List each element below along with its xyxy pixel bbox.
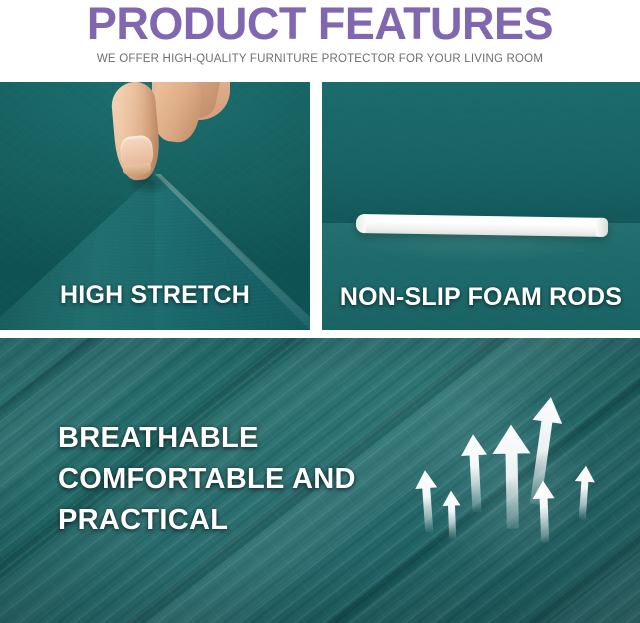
- page-title: PRODUCT FEATURES: [0, 0, 640, 50]
- product-features-infographic: PRODUCT FEATURES WE OFFER HIGH-QUALITY F…: [0, 0, 640, 623]
- panel-caption-foam-rods: NON-SLIP FOAM RODS: [322, 282, 640, 312]
- caption-line-1: BREATHABLE: [58, 418, 356, 459]
- foam-rod-icon: [356, 214, 608, 237]
- airflow-arrow-1: [414, 469, 440, 532]
- airflow-arrow-4: [492, 424, 532, 529]
- panel-divider-vertical: [310, 82, 322, 330]
- airflow-arrow-3: [460, 434, 490, 513]
- panel-divider-horizontal: [0, 330, 640, 338]
- hand-pinch-icon: [118, 82, 222, 196]
- feature-panel-high-stretch: HIGH STRETCH: [0, 82, 310, 330]
- caption-line-3: PRACTICAL: [58, 500, 356, 541]
- page-subtitle: WE OFFER HIGH-QUALITY FURNITURE PROTECTO…: [0, 52, 640, 67]
- feature-panel-breathable: BREATHABLE COMFORTABLE AND PRACTICAL: [0, 338, 640, 623]
- panel-caption-breathable: BREATHABLE COMFORTABLE AND PRACTICAL: [58, 418, 356, 541]
- caption-line-2: COMFORTABLE AND: [58, 459, 356, 500]
- foam-rod-cap-right: [596, 218, 608, 237]
- feature-panel-foam-rods: NON-SLIP FOAM RODS: [322, 82, 640, 330]
- airflow-arrow-7: [572, 465, 596, 520]
- foam-rod-highlight: [364, 217, 596, 226]
- panel-caption-high-stretch: HIGH STRETCH: [0, 280, 310, 310]
- airflow-arrows-icon: [400, 393, 610, 583]
- header-band: PRODUCT FEATURES WE OFFER HIGH-QUALITY F…: [0, 0, 640, 82]
- foam-rod-glow: [348, 232, 616, 262]
- airflow-arrow-2: [442, 490, 462, 539]
